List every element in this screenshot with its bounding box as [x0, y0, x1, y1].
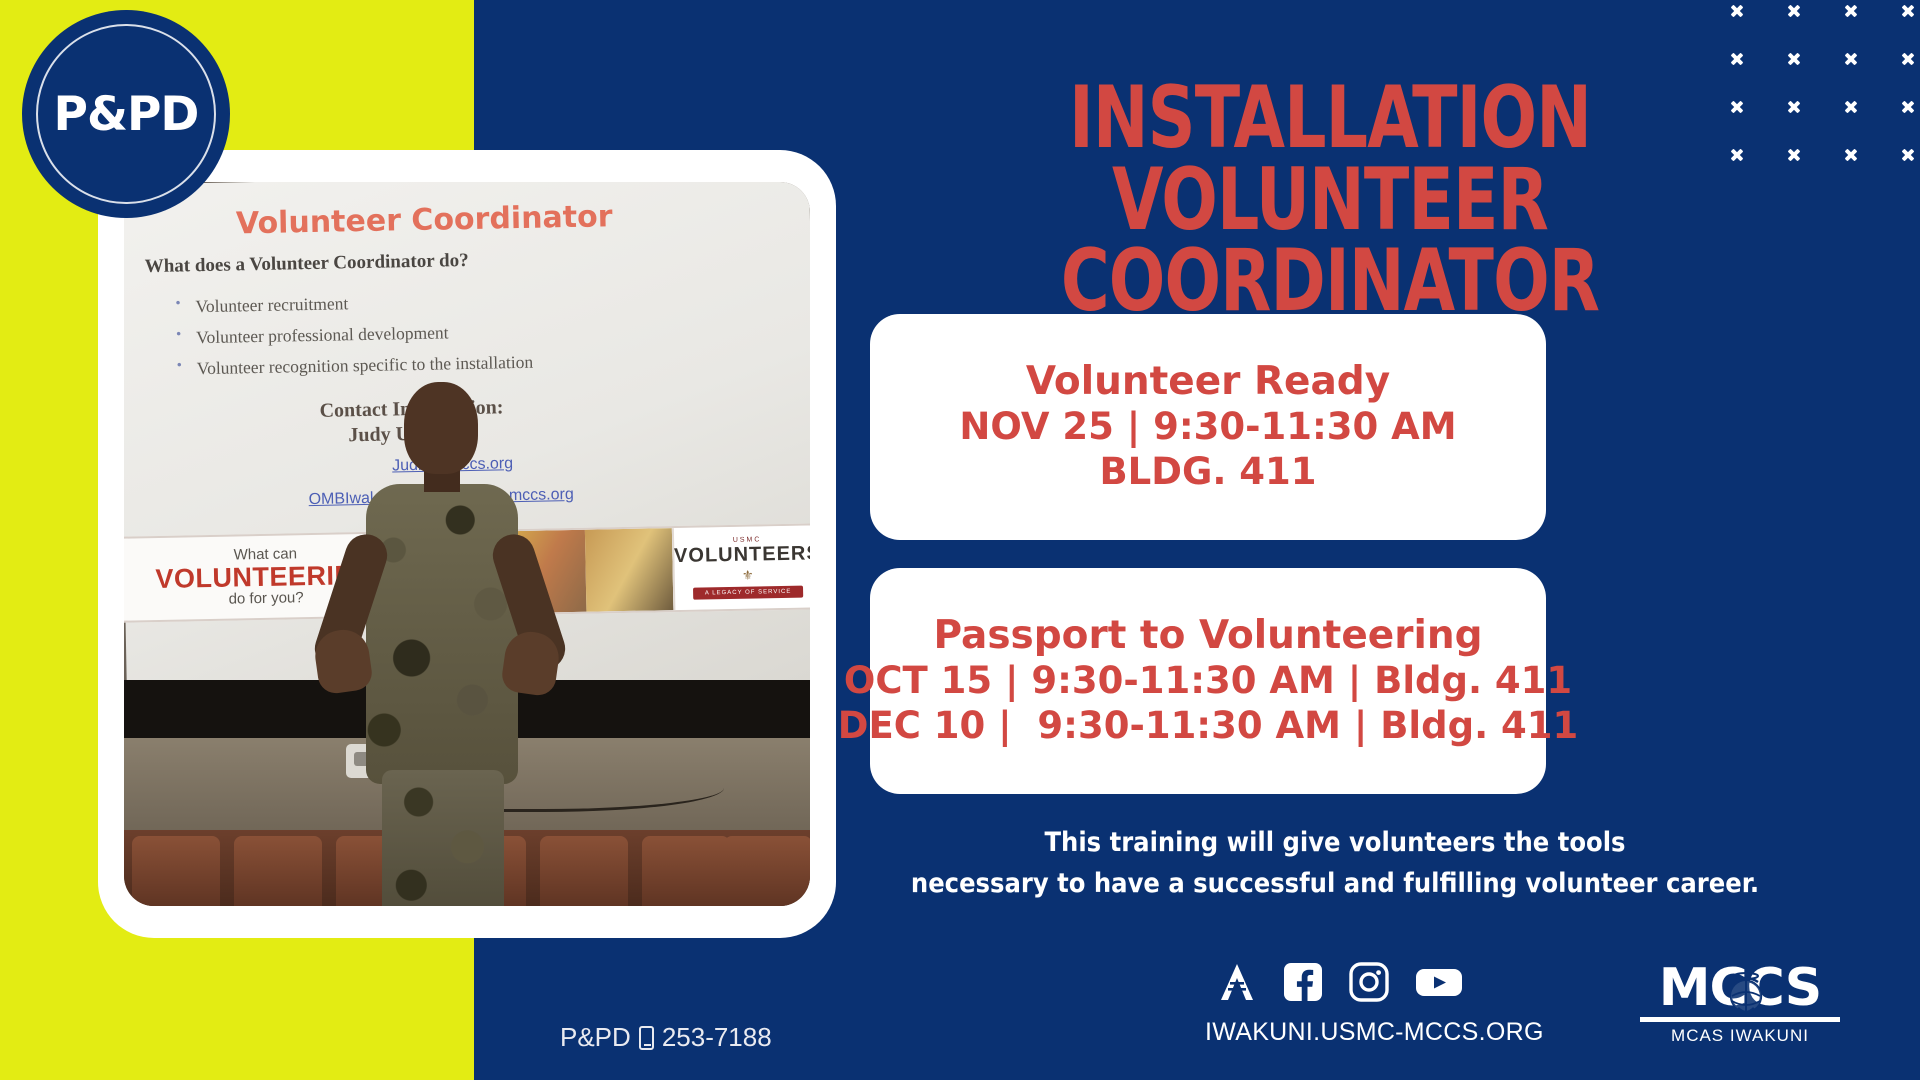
seat — [234, 836, 322, 906]
session-detail: DEC 10 | 9:30-11:30 AM | Bldg. 411 — [838, 704, 1578, 748]
right-content-column: INSTALLATION VOLUNTEER COORDINATOR Volun… — [860, 0, 1920, 1080]
volunteers-wordmark: VOLUNTEERS — [674, 542, 810, 568]
speaker-head — [404, 382, 478, 474]
session-title: Passport to Volunteering — [933, 614, 1482, 658]
session-detail: BLDG. 411 — [1099, 450, 1316, 494]
ppd-logo-badge: P&PD — [22, 10, 230, 218]
banner-line-3: do for you? — [228, 590, 303, 607]
footer-phone-number: 253-7188 — [662, 1022, 772, 1053]
usmc-volunteers-logo: USMC VOLUNTEERS ⚜ A LEGACY OF SERVICE — [672, 525, 810, 610]
page-title: INSTALLATION VOLUNTEER COORDINATOR — [900, 78, 1760, 323]
session-card-passport-to-volunteering: Passport to Volunteering OCT 15 | 9:30-1… — [870, 568, 1546, 794]
event-photo: Volunteer Coordinator What does a Volunt… — [124, 182, 810, 906]
mobile-phone-icon — [639, 1026, 654, 1050]
speaker-figure — [312, 382, 572, 906]
seat — [132, 836, 220, 906]
description-text: This training will give volunteers the t… — [820, 822, 1850, 904]
badge-label: P&PD — [54, 87, 199, 142]
banner-photo — [585, 528, 674, 612]
slide-bullet: Volunteer recruitment — [169, 286, 569, 321]
description-line-1: This training will give volunteers the t… — [820, 822, 1850, 863]
seat — [642, 836, 730, 906]
session-detail: OCT 15 | 9:30-11:30 AM | Bldg. 411 — [844, 659, 1572, 703]
session-title: Volunteer Ready — [1026, 360, 1390, 404]
seat — [724, 836, 810, 906]
session-detail: NOV 25 | 9:30-11:30 AM — [959, 405, 1456, 449]
slide-title: Volunteer Coordinator — [236, 198, 667, 241]
slide-bullet: Volunteer recognition specific to the in… — [170, 348, 570, 383]
eagle-globe-anchor-icon: ⚜ — [742, 568, 754, 584]
slide-bullet-list: Volunteer recruitment Volunteer professi… — [169, 286, 571, 387]
session-card-volunteer-ready: Volunteer Ready NOV 25 | 9:30-11:30 AM B… — [870, 314, 1546, 540]
speaker-trousers — [382, 770, 504, 906]
page-title-line-1: INSTALLATION VOLUNTEER — [900, 78, 1760, 241]
description-line-2: necessary to have a successful and fulfi… — [820, 863, 1850, 904]
slide-question: What does a Volunteer Coordinator do? — [145, 248, 585, 278]
footer-ppd-contact: P&PD 253-7188 — [560, 1022, 772, 1053]
speaker-uniform — [366, 484, 518, 784]
slide-bullet: Volunteer professional development — [170, 317, 570, 352]
photo-card-frame: Volunteer Coordinator What does a Volunt… — [98, 150, 836, 938]
footer-ppd-label: P&PD — [560, 1022, 631, 1053]
page-title-line-2: COORDINATOR — [900, 241, 1760, 323]
poster-canvas: P&PD Volunteer Coordinator What does a V… — [0, 0, 1920, 1080]
legacy-ribbon: A LEGACY OF SERVICE — [693, 586, 804, 600]
